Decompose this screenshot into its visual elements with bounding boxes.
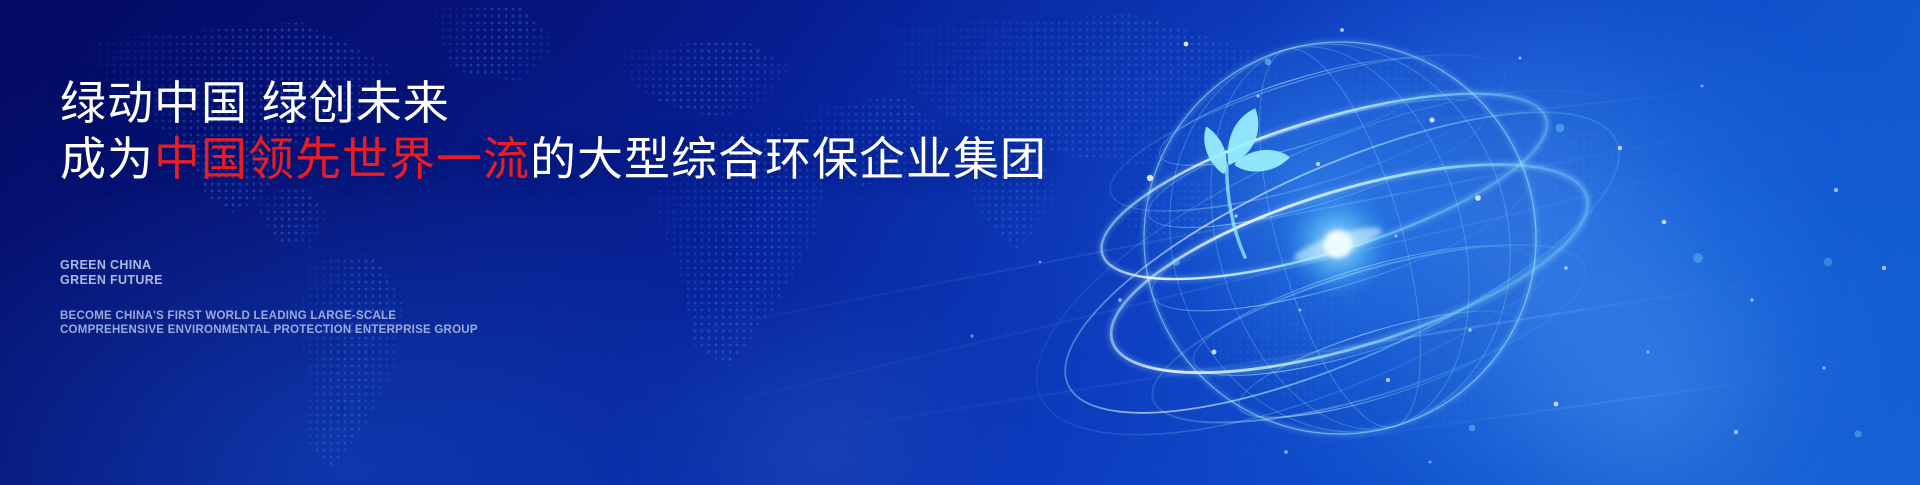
light-streak xyxy=(982,73,1877,168)
tagline-english: BECOME CHINA'S FIRST WORLD LEADING LARGE… xyxy=(60,310,478,337)
headline-primary: 绿动中国 绿创未来 xyxy=(60,77,450,129)
headline-secondary-prefix: 成为 xyxy=(60,133,154,185)
glow-haze-top xyxy=(1130,0,1890,480)
glow-haze-mid xyxy=(1340,180,1920,485)
light-streak xyxy=(1054,357,1920,480)
banner-copy: 绿动中国 绿创未来 成为中国领先世界一流的大型综合环保企业集团 GREEN CH… xyxy=(60,0,1060,485)
tagline-english-line1: BECOME CHINA'S FIRST WORLD LEADING LARGE… xyxy=(60,310,478,324)
slogan-english-line2: GREEN FUTURE xyxy=(60,273,163,288)
slogan-english-line1: GREEN CHINA xyxy=(60,258,163,273)
headline-secondary: 成为中国领先世界一流的大型综合环保企业集团 xyxy=(60,133,1047,185)
wireframe-globe-icon xyxy=(1070,0,1610,485)
headline-secondary-suffix: 的大型综合环保企业集团 xyxy=(530,133,1047,185)
tagline-english-line2: COMPREHENSIVE ENVIRONMENTAL PROTECTION E… xyxy=(60,324,478,338)
hero-banner: 绿动中国 绿创未来 成为中国领先世界一流的大型综合环保企业集团 GREEN CH… xyxy=(0,0,1920,485)
sprout-leaf-icon xyxy=(1204,108,1290,257)
headline-secondary-highlight: 中国领先世界一流 xyxy=(154,133,530,185)
slogan-english: GREEN CHINA GREEN FUTURE xyxy=(60,258,163,287)
